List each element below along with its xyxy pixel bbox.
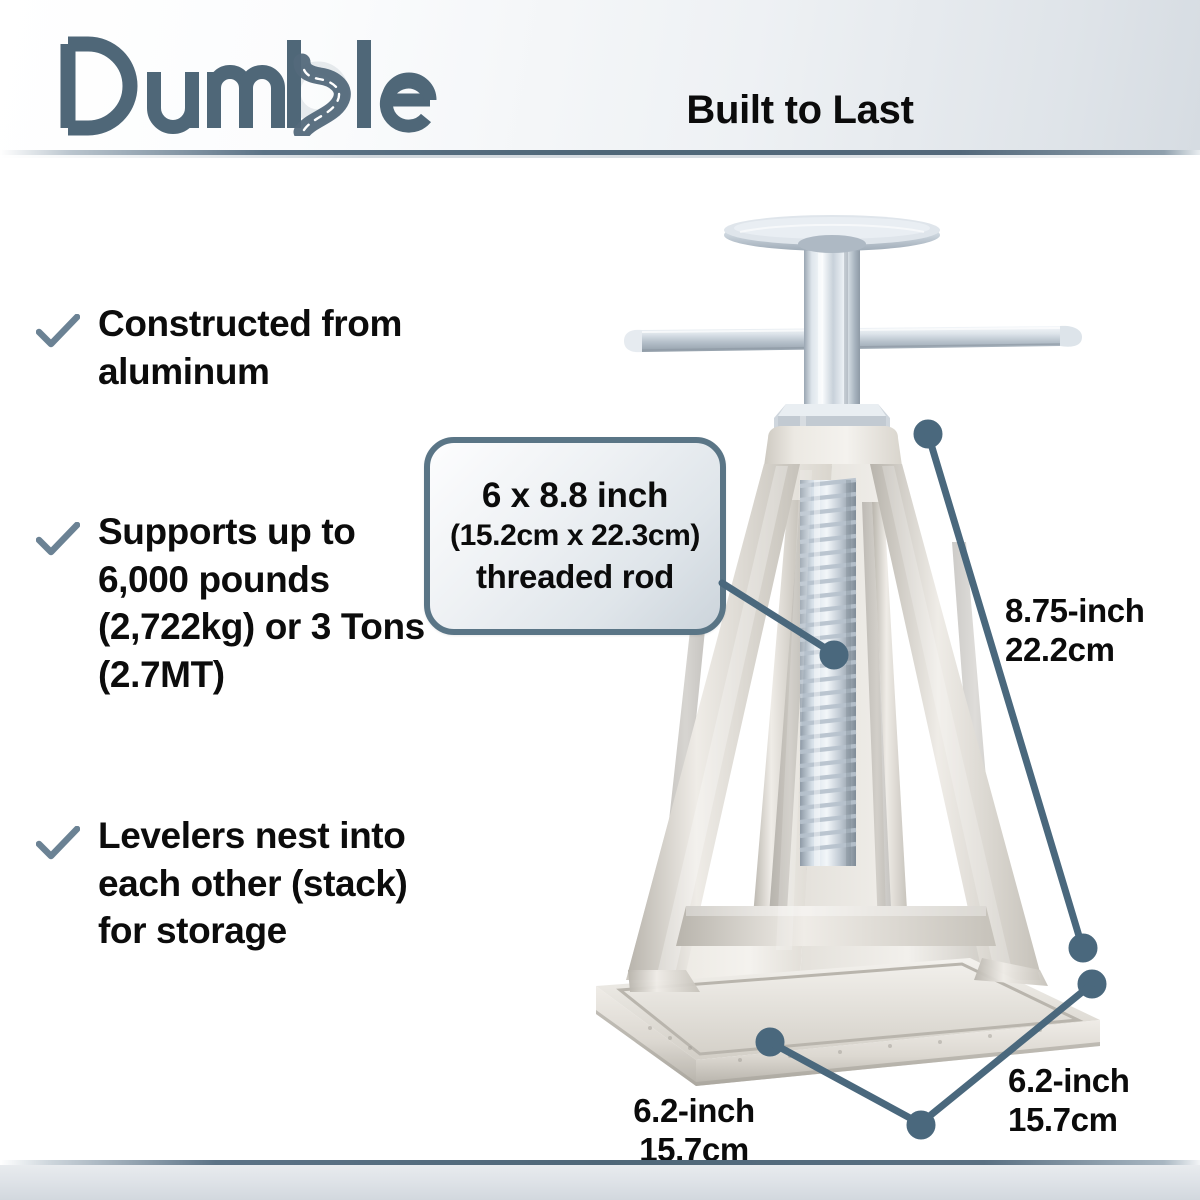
infographic-page: Built to Last Constructed from aluminum … bbox=[0, 0, 1200, 1200]
feature-text: Constructed from aluminum bbox=[98, 300, 428, 395]
dimension-label-base-front: 6.2-inch 15.7cm bbox=[604, 1092, 784, 1170]
dimension-label-height: 8.75-inch 22.2cm bbox=[1005, 592, 1144, 670]
checkmark-icon bbox=[36, 812, 80, 955]
callout-threaded-rod: 6 x 8.8 inch (15.2cm x 22.3cm) threaded … bbox=[424, 437, 726, 635]
dim-height-imperial: 8.75-inch bbox=[1005, 592, 1144, 631]
page-tagline: Built to Last bbox=[520, 88, 1080, 133]
list-item: Supports up to 6,000 pounds (2,722kg) or… bbox=[36, 508, 428, 699]
list-item: Levelers nest into each other (stack) fo… bbox=[36, 812, 428, 955]
winding-road-icon bbox=[302, 62, 342, 132]
list-item: Constructed from aluminum bbox=[36, 300, 428, 395]
callout-line-3: threaded rod bbox=[476, 558, 674, 596]
top-cap-plate bbox=[724, 215, 940, 253]
header-band: Built to Last bbox=[0, 0, 1200, 152]
callout-line-2: (15.2cm x 22.3cm) bbox=[450, 518, 700, 554]
callout-line-1: 6 x 8.8 inch bbox=[482, 476, 668, 515]
feature-text: Levelers nest into each other (stack) fo… bbox=[98, 812, 428, 955]
screw-shaft bbox=[804, 242, 860, 404]
dim-right-imperial: 6.2-inch bbox=[1008, 1062, 1130, 1101]
feature-text: Supports up to 6,000 pounds (2,722kg) or… bbox=[98, 508, 428, 699]
dim-front-imperial: 6.2-inch bbox=[604, 1092, 784, 1131]
footer-band bbox=[0, 1165, 1200, 1200]
dim-right-metric: 15.7cm bbox=[1008, 1101, 1130, 1140]
brand-logo bbox=[58, 36, 438, 136]
dim-height-metric: 22.2cm bbox=[1005, 631, 1144, 670]
checkmark-icon bbox=[36, 508, 80, 699]
product-image bbox=[500, 180, 1200, 1170]
dimension-label-base-right: 6.2-inch 15.7cm bbox=[1008, 1062, 1130, 1140]
checkmark-icon bbox=[36, 300, 80, 395]
header-divider-soft bbox=[0, 155, 1200, 158]
brand-wordmark bbox=[68, 40, 430, 128]
